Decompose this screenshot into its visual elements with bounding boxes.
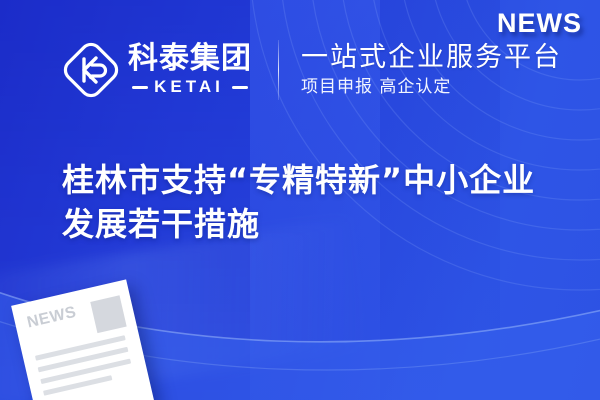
header-divider	[278, 40, 279, 100]
slogan-block: 一站式企业服务平台 项目申报 高企认定	[301, 43, 562, 97]
dash-right-icon	[232, 86, 248, 89]
brand-name-en: KETAI	[154, 77, 224, 97]
news-banner: NEWS 科泰集团 KETAI	[0, 0, 600, 400]
newspaper-sheet: NEWS	[11, 279, 155, 400]
news-badge: NEWS	[497, 8, 582, 39]
newspaper-masthead: NEWS	[26, 304, 79, 333]
ketai-diamond-monogram-icon	[62, 41, 120, 99]
brand-name-en-row: KETAI	[128, 77, 252, 97]
brand-logo-text: 科泰集团 KETAI	[128, 43, 252, 97]
slogan-sub: 项目申报 高企认定	[301, 77, 562, 97]
newspaper-image-placeholder	[90, 295, 126, 333]
dash-left-icon	[132, 86, 148, 89]
newspaper-icon: NEWS	[16, 283, 166, 400]
banner-header: 科泰集团 KETAI 一站式企业服务平台 项目申报 高企认定	[62, 40, 562, 100]
brand-name-cn: 科泰集团	[128, 43, 252, 75]
brand-logo[interactable]: 科泰集团 KETAI	[62, 41, 252, 99]
page-title: 桂林市支持“专精特新”中小企业发展若干措施	[62, 158, 567, 246]
slogan-main: 一站式企业服务平台	[301, 43, 562, 73]
